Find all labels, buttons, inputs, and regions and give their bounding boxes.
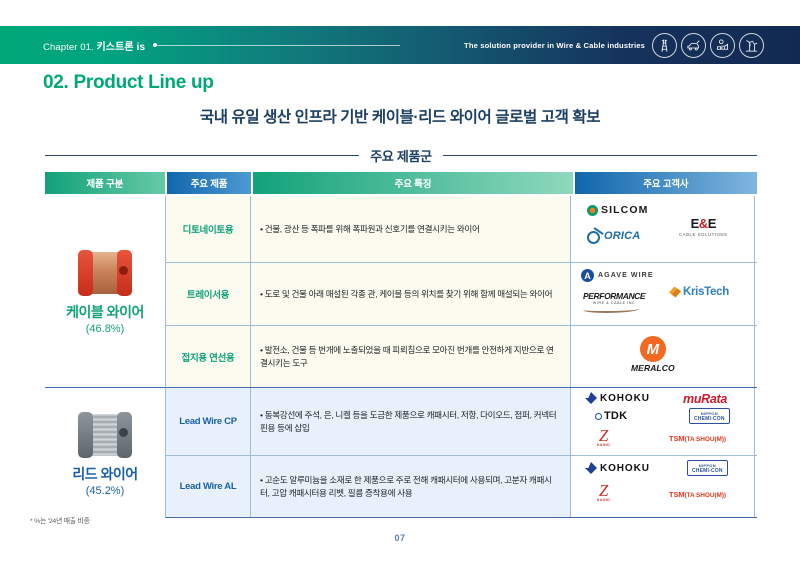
page-title: 02. Product Line up	[43, 72, 214, 94]
kristech-mark-icon	[669, 287, 681, 298]
electric-vehicle-icon	[681, 33, 706, 58]
header-rule	[155, 45, 400, 46]
table-body: 케이블 와이어 (46.8%) 리드 와이어 (45.2%) 디토네이토용	[45, 196, 757, 518]
page-subtitle: 국내 유일 생산 인프라 기반 케이블·리드 와이어 글로벌 고객 확보	[0, 105, 800, 127]
slide: Chapter 01. 키스트론 is The solution provide…	[0, 0, 800, 565]
tdk-mark-icon	[595, 413, 602, 420]
logo-nippon-chemi-con: NIPPON CHEMI-CON	[687, 460, 728, 476]
kaiho-mark-icon: Z	[597, 428, 610, 443]
silcom-mark-icon	[587, 205, 598, 216]
row-product-name: Lead Wire CP	[166, 388, 251, 455]
row-description: • 건물, 광산 등 폭파를 위해 폭파원과 신호기를 연결시키는 와이어	[251, 196, 571, 262]
ee-wordmark: E&E	[679, 216, 728, 231]
table-header-row: 제품 구분 주요 제품 주요 특징 주요 고객사	[45, 172, 757, 194]
row-description: • 동복강선에 주석, 은, 니켈 등을 도금한 제품으로 캐패시터, 저항, …	[251, 388, 571, 455]
logo-orica: ORICA	[587, 229, 640, 242]
logo-kristech: KrisTech	[669, 286, 729, 298]
copper-spool-icon	[72, 248, 138, 298]
table-row: 디토네이토용 • 건물, 광산 등 폭파를 위해 폭파원과 신호기를 연결시키는…	[165, 196, 757, 262]
row-product-name: 트레이서용	[166, 263, 251, 325]
table-row: 트레이서용 • 도로 및 건물 아래 매설된 각종 관, 케이블 등의 위치를 …	[165, 262, 757, 325]
row-customers: SILCOM E&E CABLE SOLUTIONS ORICA	[571, 196, 755, 262]
logo-agave-wire: A AGAVE WIRE	[581, 269, 654, 282]
section-band: 주요 제품군	[45, 146, 757, 165]
table-row: 접지용 연선용 • 발전소, 건물 등 번개에 노출되었을 때 피뢰침으로 모아…	[165, 325, 757, 387]
col-header-category: 제품 구분	[45, 172, 165, 194]
band-line-left	[45, 155, 359, 156]
chapter-name: 키스트론 is	[97, 42, 146, 53]
kaiho-mark-icon: Z	[597, 483, 610, 498]
band-line-right	[443, 155, 757, 156]
row-description: • 고순도 알루미늄을 소재로 한 제품으로 주로 전해 캐패시터에 사용되며,…	[251, 456, 571, 517]
header-icon-row	[652, 33, 764, 58]
orica-mark-icon	[587, 229, 602, 242]
row-product-name: 접지용 연선용	[166, 326, 251, 387]
category-percent-lead-wire: (45.2%)	[86, 485, 125, 497]
cable-tower-icon	[652, 33, 677, 58]
factory-icon	[710, 33, 735, 58]
footnote: * %는 '24년 매출 비중	[30, 515, 90, 525]
chapter-label: Chapter 01. 키스트론 is	[43, 38, 145, 53]
row-description: • 도로 및 건물 아래 매설된 각종 관, 케이블 등의 위치를 찾기 위해 …	[251, 263, 571, 325]
header-tagline: The solution provider in Wire & Cable in…	[464, 41, 645, 50]
col-header-customer: 주요 고객사	[575, 172, 757, 194]
row-description: • 발전소, 건물 등 번개에 노출되었을 때 피뢰침으로 모아진 번개를 안전…	[251, 326, 571, 387]
category-name-cable-wire: 케이블 와이어	[66, 302, 144, 322]
steel-spool-icon	[72, 410, 138, 460]
category-cell-cable-wire: 케이블 와이어 (46.8%)	[45, 196, 165, 387]
kohoku-mark-icon	[585, 392, 597, 404]
performance-swoosh-icon	[583, 306, 639, 313]
kohoku-mark-icon	[585, 462, 597, 474]
logo-tsm: TSM(TA SHOU(M))	[669, 490, 726, 499]
logo-tsm: TSM(TA SHOU(M))	[669, 434, 726, 443]
logo-kohoku: KOHOKU	[585, 392, 650, 404]
logo-tdk: TDK	[595, 410, 627, 422]
col-header-feature: 주요 특징	[253, 172, 572, 194]
row-customers: A AGAVE WIRE KrisTech PERFORMANCE WIRE	[571, 263, 755, 325]
logo-performance: PERFORMANCE WIRE & CABLE INC	[583, 291, 645, 313]
tsm-wordmark: TSM(TA SHOU(M))	[669, 434, 726, 443]
table-row: Lead Wire AL • 고순도 알루미늄을 소재로 한 제품으로 주로 전…	[165, 455, 757, 518]
meralco-mark-icon: M	[640, 336, 666, 362]
category-percent-cable-wire: (46.8%)	[86, 323, 125, 335]
logo-silcom: SILCOM	[587, 204, 648, 216]
row-product-name: Lead Wire AL	[166, 456, 251, 517]
logo-murata: muRata	[683, 392, 727, 406]
logo-kaiho-script: Z KAIHO	[597, 428, 610, 447]
tsm-wordmark: TSM(TA SHOU(M))	[669, 490, 726, 499]
chapter-prefix: Chapter 01.	[43, 42, 94, 53]
logo-nippon-chemi-con: NIPPON CHEMI-CON	[689, 408, 730, 424]
logo-kohoku: KOHOKU	[585, 462, 650, 474]
performance-wordmark: PERFORMANCE	[583, 291, 645, 301]
ee-tagline: CABLE SOLUTIONS	[679, 232, 728, 237]
page-number: 07	[0, 533, 800, 543]
row-customers: M MERALCO	[571, 326, 755, 387]
category-column: 케이블 와이어 (46.8%) 리드 와이어 (45.2%)	[45, 196, 165, 518]
band-label: 주요 제품군	[368, 146, 434, 165]
logo-meralco: M MERALCO	[631, 336, 675, 373]
category-cell-lead-wire: 리드 와이어 (45.2%)	[45, 387, 165, 518]
table-row: Lead Wire CP • 동복강선에 주석, 은, 니켈 등을 도금한 제품…	[165, 387, 757, 455]
wind-turbine-icon	[739, 33, 764, 58]
row-customers: KOHOKU muRata TDK NIPPON	[571, 388, 755, 455]
row-product-name: 디토네이토용	[166, 196, 251, 262]
product-table: 제품 구분 주요 제품 주요 특징 주요 고객사 케이블 와이어 (46.8%)	[45, 172, 757, 518]
row-customers: KOHOKU NIPPON CHEMI-CON Z	[571, 456, 755, 517]
logo-ee: E&E CABLE SOLUTIONS	[679, 216, 728, 237]
col-header-product: 주요 제품	[167, 172, 252, 194]
rows-column: 디토네이토용 • 건물, 광산 등 폭파를 위해 폭파원과 신호기를 연결시키는…	[165, 196, 757, 518]
category-name-lead-wire: 리드 와이어	[72, 464, 137, 484]
logo-kaiho-script: Z KAIHO	[597, 483, 610, 502]
performance-tagline: WIRE & CABLE INC	[583, 301, 645, 305]
agave-mark-icon: A	[581, 269, 594, 282]
top-header-bar: Chapter 01. 키스트론 is The solution provide…	[0, 26, 800, 64]
